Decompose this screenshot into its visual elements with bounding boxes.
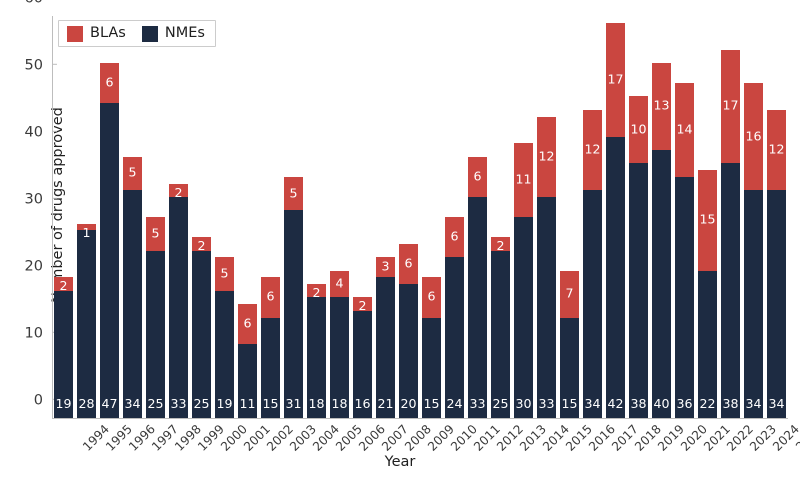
bar-segment-blas[interactable]: 6 <box>468 157 486 197</box>
bar-group[interactable]: 116 <box>238 304 256 418</box>
bar-value-label-nmes: 31 <box>284 398 302 411</box>
plot-area: 0102030405060 19228147634525533225219511… <box>52 16 788 418</box>
y-tick-mark <box>52 130 57 131</box>
bar-segment-nmes[interactable]: 34 <box>744 190 762 418</box>
bar-segment-blas[interactable]: 2 <box>353 297 371 310</box>
bar-value-label-nmes: 34 <box>744 398 762 411</box>
bar-segment-nmes[interactable]: 30 <box>514 217 532 418</box>
bar-value-label-blas: 2 <box>307 287 325 300</box>
bar-segment-nmes[interactable]: 19 <box>54 291 72 418</box>
bar-segment-blas[interactable]: 2 <box>54 277 72 290</box>
y-tick-label: 10 <box>25 326 52 342</box>
bar-group[interactable]: 255 <box>146 217 164 418</box>
bar-segment-blas[interactable]: 5 <box>146 217 164 251</box>
bar-value-label-nmes: 40 <box>652 398 670 411</box>
bar-segment-blas[interactable]: 10 <box>629 96 647 163</box>
bar-value-label-nmes: 38 <box>721 398 739 411</box>
bar-group[interactable]: 213 <box>376 257 394 418</box>
bar-group[interactable]: 3312 <box>537 117 555 419</box>
stacked-bar-chart: Number of drugs approved Year 0102030405… <box>0 0 800 479</box>
bar-segment-nmes[interactable]: 36 <box>675 177 693 418</box>
bar-value-label-nmes: 18 <box>330 398 348 411</box>
legend-item[interactable]: BLAs <box>67 26 126 42</box>
legend-label: NMEs <box>165 26 205 41</box>
bar-value-label-blas: 6 <box>468 171 486 184</box>
bar-value-label-blas: 12 <box>767 144 785 157</box>
bar-segment-nmes[interactable]: 22 <box>698 271 716 418</box>
bar-segment-nmes[interactable]: 33 <box>537 197 555 418</box>
bar-value-label-blas: 6 <box>261 291 279 304</box>
bar-group[interactable]: 206 <box>399 244 417 418</box>
bar-value-label-blas: 6 <box>238 318 256 331</box>
y-tick-label: 20 <box>25 259 52 275</box>
bar-value-label-blas: 15 <box>698 214 716 227</box>
bar-segment-blas[interactable]: 17 <box>721 50 739 164</box>
bar-segment-nmes[interactable]: 11 <box>238 344 256 418</box>
bar-value-label-nmes: 19 <box>54 398 72 411</box>
bar-value-label-nmes: 15 <box>261 398 279 411</box>
legend-swatch-nmes <box>142 26 158 42</box>
bar-value-label-nmes: 36 <box>675 398 693 411</box>
y-tick-mark <box>52 63 57 64</box>
bar-value-label-blas: 12 <box>537 150 555 163</box>
bar-segment-nmes[interactable]: 21 <box>376 277 394 418</box>
bar-group[interactable]: 252 <box>192 237 210 418</box>
bar-group[interactable]: 184 <box>330 271 348 418</box>
bar-segment-nmes[interactable]: 38 <box>629 163 647 418</box>
bar-group[interactable]: 2215 <box>698 170 716 418</box>
y-tick-mark <box>52 264 57 265</box>
bar-group[interactable]: 3614 <box>675 83 693 418</box>
bar-value-label-nmes: 25 <box>146 398 164 411</box>
bar-segment-blas[interactable]: 12 <box>537 117 555 197</box>
bar-segment-blas[interactable]: 16 <box>744 83 762 190</box>
bar-segment-blas[interactable]: 2 <box>192 237 210 250</box>
bar-value-label-blas: 3 <box>376 261 394 274</box>
y-tick-label: 30 <box>25 192 52 208</box>
bar-segment-blas[interactable]: 6 <box>100 63 118 103</box>
bar-segment-nmes[interactable]: 38 <box>721 163 739 418</box>
bar-value-label-nmes: 15 <box>422 398 440 411</box>
bar-group[interactable]: 3412 <box>767 110 785 418</box>
bar-segment-blas[interactable]: 2 <box>169 184 187 197</box>
bar-value-label-nmes: 30 <box>514 398 532 411</box>
bar-segment-blas[interactable]: 11 <box>514 143 532 217</box>
bar-value-label-nmes: 25 <box>491 398 509 411</box>
bar-value-label-nmes: 28 <box>77 398 95 411</box>
x-axis-title: Year <box>0 454 800 470</box>
bar-group[interactable]: 156 <box>261 277 279 418</box>
bar-segment-nmes[interactable]: 15 <box>560 318 578 419</box>
bar-segment-nmes[interactable]: 31 <box>284 210 302 418</box>
bar-value-label-blas: 17 <box>606 73 624 86</box>
bar-value-label-blas: 2 <box>353 300 371 313</box>
bar-segment-blas[interactable]: 17 <box>606 23 624 137</box>
bar-segment-blas[interactable]: 6 <box>399 244 417 284</box>
bar-segment-nmes[interactable]: 34 <box>767 190 785 418</box>
bar-group[interactable]: 157 <box>560 271 578 418</box>
bar-segment-nmes[interactable]: 18 <box>330 297 348 418</box>
bar-value-label-blas: 2 <box>169 187 187 200</box>
bar-group[interactable]: 3810 <box>629 96 647 418</box>
bar-value-label-blas: 6 <box>399 258 417 271</box>
bar-segment-blas[interactable]: 13 <box>652 63 670 150</box>
y-tick-label: 40 <box>25 125 52 141</box>
bar-value-label-blas: 5 <box>123 167 141 180</box>
y-tick: 40 <box>25 122 52 141</box>
bar-segment-nmes[interactable]: 34 <box>123 190 141 418</box>
bar-value-label-nmes: 24 <box>445 398 463 411</box>
bar-group[interactable]: 476 <box>100 63 118 418</box>
bar-value-label-nmes: 47 <box>100 398 118 411</box>
bar-segment-nmes[interactable]: 24 <box>445 257 463 418</box>
bar-group[interactable]: 315 <box>284 177 302 418</box>
bar-value-label-nmes: 33 <box>537 398 555 411</box>
bar-group[interactable]: 162 <box>353 297 371 418</box>
bar-value-label-nmes: 11 <box>238 398 256 411</box>
y-tick: 0 <box>34 390 52 409</box>
bar-value-label-nmes: 21 <box>376 398 394 411</box>
bar-value-label-nmes: 38 <box>629 398 647 411</box>
bar-segment-blas[interactable]: 6 <box>261 277 279 317</box>
bar-segment-blas[interactable]: 5 <box>284 177 302 211</box>
bar-group[interactable]: 246 <box>445 217 463 418</box>
bar-segment-nmes[interactable]: 28 <box>77 230 95 418</box>
bar-segment-blas[interactable]: 14 <box>675 83 693 177</box>
bar-segment-nmes[interactable]: 25 <box>146 251 164 419</box>
bar-segment-blas[interactable]: 6 <box>422 277 440 317</box>
bar-segment-nmes[interactable]: 25 <box>491 251 509 419</box>
bar-value-label-nmes: 34 <box>767 398 785 411</box>
bar-segment-blas[interactable]: 2 <box>491 237 509 250</box>
bar-segment-blas[interactable]: 7 <box>560 271 578 318</box>
bar-segment-nmes[interactable]: 33 <box>169 197 187 418</box>
bar-segment-nmes[interactable]: 25 <box>192 251 210 419</box>
y-tick-mark <box>52 197 57 198</box>
bar-group[interactable]: 252 <box>491 237 509 418</box>
bar-segment-blas[interactable]: 15 <box>698 170 716 271</box>
chart-legend: BLAsNMEs <box>58 20 216 47</box>
bar-value-label-nmes: 33 <box>468 398 486 411</box>
bar-value-label-blas: 5 <box>284 187 302 200</box>
bar-segment-nmes[interactable]: 19 <box>215 291 233 418</box>
bar-value-label-nmes: 34 <box>123 398 141 411</box>
bar-value-label-nmes: 19 <box>215 398 233 411</box>
bar-value-label-blas: 6 <box>100 77 118 90</box>
bar-value-label-nmes: 25 <box>192 398 210 411</box>
y-tick: 50 <box>25 55 52 74</box>
bar-value-label-nmes: 22 <box>698 398 716 411</box>
bar-value-label-blas: 6 <box>445 231 463 244</box>
y-tick: 30 <box>25 189 52 208</box>
bar-segment-nmes[interactable]: 15 <box>261 318 279 419</box>
bar-value-label-nmes: 42 <box>606 398 624 411</box>
bar-value-label-nmes: 33 <box>169 398 187 411</box>
bar-group[interactable]: 4013 <box>652 63 670 418</box>
bar-value-label-blas: 5 <box>146 227 164 240</box>
y-tick-label: 60 <box>25 0 52 7</box>
legend-label: BLAs <box>90 26 126 41</box>
bar-value-label-nmes: 15 <box>560 398 578 411</box>
bar-group[interactable]: 3011 <box>514 143 532 418</box>
bar-value-label-blas: 11 <box>514 174 532 187</box>
bar-value-label-blas: 13 <box>652 100 670 113</box>
bar-group[interactable]: 3817 <box>721 50 739 419</box>
bar-segment-nmes[interactable]: 47 <box>100 103 118 418</box>
bar-value-label-blas: 10 <box>629 124 647 137</box>
bar-segment-nmes[interactable]: 40 <box>652 150 670 418</box>
bar-segment-blas[interactable]: 6 <box>445 217 463 257</box>
bar-group[interactable]: 4217 <box>606 23 624 418</box>
bar-segment-nmes[interactable]: 20 <box>399 284 417 418</box>
y-tick: 60 <box>25 0 52 7</box>
bar-value-label-blas: 6 <box>422 291 440 304</box>
bar-value-label-nmes: 34 <box>583 398 601 411</box>
bar-value-label-nmes: 16 <box>353 398 371 411</box>
bar-value-label-blas: 16 <box>744 130 762 143</box>
bar-value-label-blas: 7 <box>560 288 578 301</box>
bar-group[interactable]: 345 <box>123 157 141 418</box>
y-tick-label: 50 <box>25 58 52 74</box>
bar-value-label-blas: 2 <box>54 280 72 293</box>
bar-group[interactable]: 281 <box>77 224 95 418</box>
bar-segment-nmes[interactable]: 15 <box>422 318 440 419</box>
bar-value-label-blas: 1 <box>77 227 95 240</box>
bar-segment-blas[interactable]: 12 <box>583 110 601 190</box>
bar-group[interactable]: 332 <box>169 184 187 419</box>
bar-value-label-blas: 5 <box>215 268 233 281</box>
bar-segment-blas[interactable]: 6 <box>238 304 256 344</box>
bar-value-label-nmes: 18 <box>307 398 325 411</box>
bar-segment-nmes[interactable]: 18 <box>307 297 325 418</box>
bar-segment-blas[interactable]: 12 <box>767 110 785 190</box>
bar-segment-blas[interactable]: 5 <box>123 157 141 191</box>
bar-segment-blas[interactable]: 2 <box>307 284 325 297</box>
bar-segment-nmes[interactable]: 33 <box>468 197 486 418</box>
x-axis-line <box>52 418 788 419</box>
bar-group[interactable]: 182 <box>307 284 325 418</box>
bar-group[interactable]: 3412 <box>583 110 601 418</box>
y-tick: 10 <box>25 323 52 342</box>
y-tick: 20 <box>25 256 52 275</box>
legend-swatch-blas <box>67 26 83 42</box>
bar-segment-blas[interactable]: 4 <box>330 271 348 298</box>
bar-group[interactable]: 3416 <box>744 83 762 418</box>
bar-value-label-blas: 4 <box>330 278 348 291</box>
bar-value-label-blas: 2 <box>192 240 210 253</box>
bar-value-label-blas: 2 <box>491 240 509 253</box>
x-tick-label: 1994 <box>80 422 112 454</box>
bar-segment-blas[interactable]: 5 <box>215 257 233 291</box>
y-tick-label: 0 <box>34 393 52 409</box>
bar-group[interactable]: 195 <box>215 257 233 418</box>
bar-value-label-blas: 17 <box>721 100 739 113</box>
bar-value-label-blas: 14 <box>675 124 693 137</box>
bar-segment-nmes[interactable]: 42 <box>606 137 624 418</box>
bar-value-label-nmes: 20 <box>399 398 417 411</box>
bar-segment-blas[interactable]: 3 <box>376 257 394 277</box>
bar-group[interactable]: 156 <box>422 277 440 418</box>
bar-segment-nmes[interactable]: 16 <box>353 311 371 418</box>
bar-group[interactable]: 336 <box>468 157 486 418</box>
bar-value-label-blas: 12 <box>583 144 601 157</box>
bar-segment-blas[interactable]: 1 <box>77 224 95 231</box>
bar-segment-nmes[interactable]: 34 <box>583 190 601 418</box>
bar-group[interactable]: 192 <box>54 277 72 418</box>
legend-item[interactable]: NMEs <box>142 26 205 42</box>
